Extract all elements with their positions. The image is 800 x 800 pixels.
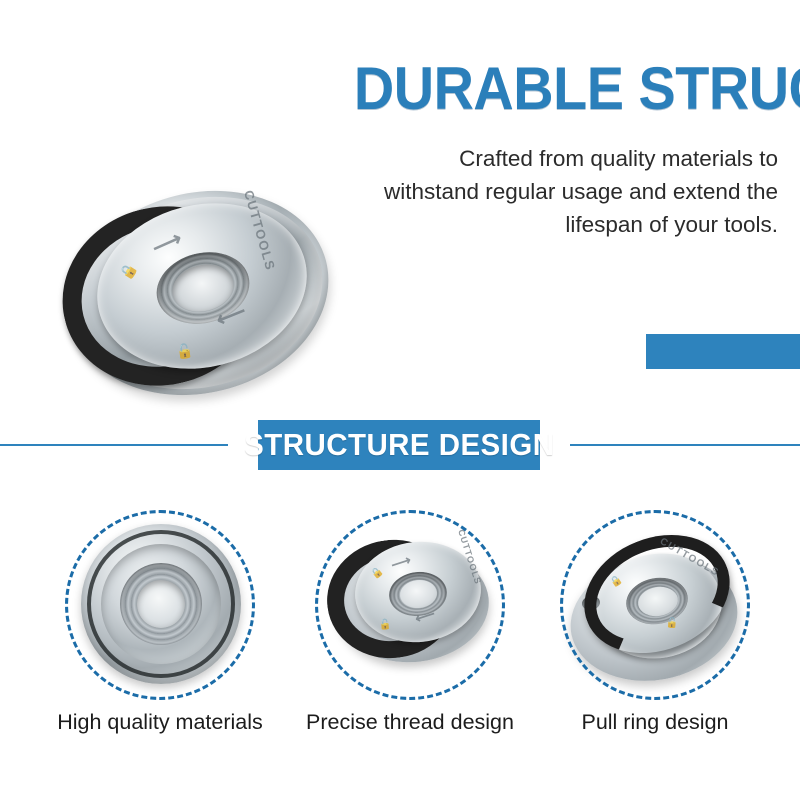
dashed-highlight-circle (65, 510, 255, 700)
feature-card: CUTTOOLS 🔒 🔓 Pull ring design (530, 495, 780, 755)
features-row: High quality materials CUTTOOLS ⟶ ⟶ 🔒 🔓 … (0, 495, 800, 755)
divider-line-left (0, 444, 228, 446)
hero-product-photo: CUTTOOLS ⟶ ⟶ 🔒 🔓 (48, 155, 348, 405)
dashed-highlight-circle (315, 510, 505, 700)
hero-section: CUTTOOLS ⟶ ⟶ 🔒 🔓 DURABLE STRUCTURE Craft… (0, 0, 800, 410)
section-badge-label: STRUCTURE DESIGN (244, 427, 554, 463)
feature-photo: CUTTOOLS 🔒 🔓 (560, 510, 750, 700)
divider-line-right (570, 444, 800, 446)
feature-caption: Precise thread design (275, 710, 545, 735)
section-divider: STRUCTURE DESIGN (0, 415, 800, 475)
feature-caption: Pull ring design (520, 710, 790, 735)
feature-caption: High quality materials (25, 710, 295, 735)
accent-bar (646, 334, 800, 369)
feature-photo (65, 510, 255, 700)
feature-card: High quality materials (35, 495, 285, 755)
page-title: DURABLE STRUCTURE (354, 60, 778, 118)
feature-card: CUTTOOLS ⟶ ⟶ 🔒 🔓 Precise thread design (285, 495, 535, 755)
hero-subtitle: Crafted from quality materials to withst… (378, 142, 778, 241)
dashed-highlight-circle (560, 510, 750, 700)
feature-photo: CUTTOOLS ⟶ ⟶ 🔒 🔓 (315, 510, 505, 700)
section-badge: STRUCTURE DESIGN (258, 420, 540, 470)
